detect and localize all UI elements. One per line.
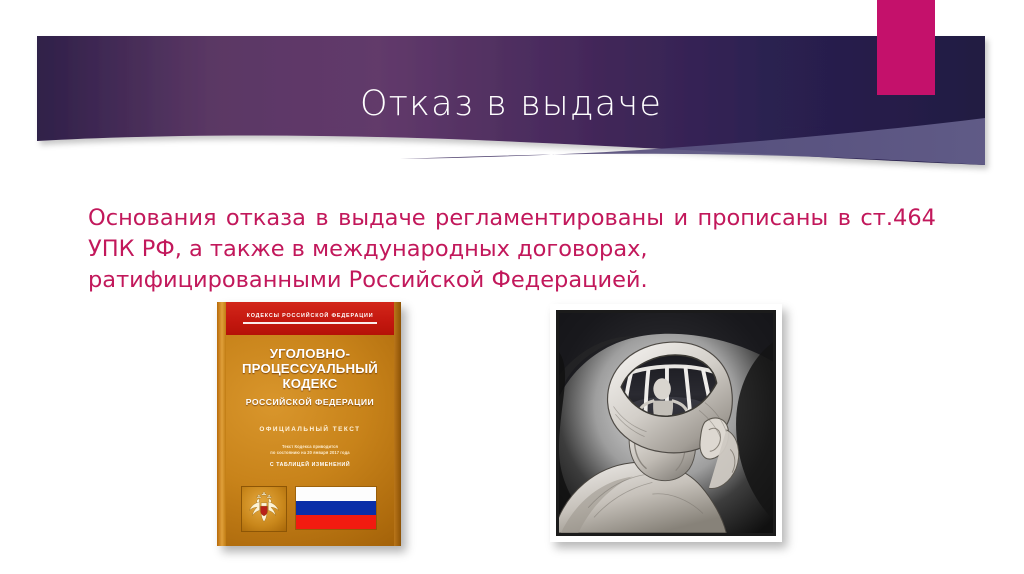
book-note-line-2: по состоянию на 20 января 2017 года <box>237 450 383 456</box>
flag-stripe-white <box>296 487 376 501</box>
page-title: Отказ в выдаче <box>37 86 985 123</box>
book-subtitle: РОССИЙСКОЙ ФЕДЕРАЦИИ <box>228 397 392 407</box>
book-title-line-3: КОДЕКС <box>228 376 392 391</box>
book-title-lines: УГОЛОВНО- ПРОЦЕССУАЛЬНЫЙ КОДЕКС <box>228 346 392 391</box>
book-page-edge <box>394 302 401 546</box>
body-line-3: ратифицированными Российской Федерацией. <box>88 265 936 296</box>
book-changes-table-label: С ТАБЛИЦЕЙ ИЗМЕНЕНИЙ <box>228 462 392 468</box>
russian-coat-of-arms-icon <box>241 486 287 532</box>
drawing-frame <box>556 310 776 536</box>
head-with-prison-bars-image <box>550 304 782 542</box>
accent-rectangle <box>877 0 935 95</box>
book-series-label: КОДЕКСЫ РОССИЙСКОЙ ФЕДЕРАЦИИ <box>247 313 374 319</box>
body-line-1: Основания отказа в выдаче регламентирова… <box>88 205 851 231</box>
book-bottom-emblems <box>241 486 377 530</box>
book-edition-note: Текст Кодекса приводится по состоянию на… <box>237 444 383 456</box>
russian-flag-icon <box>295 486 377 530</box>
body-paragraph: Основания отказа в выдаче регламентирова… <box>88 203 936 296</box>
book-title-block: УГОЛОВНО- ПРОЦЕССУАЛЬНЫЙ КОДЕКС РОССИЙСК… <box>228 346 392 407</box>
book-official-text-label: ОФИЦИАЛЬНЫЙ ТЕКСТ <box>228 426 392 433</box>
flag-stripe-red <box>296 515 376 529</box>
book-top-band: КОДЕКСЫ РОССИЙСКОЙ ФЕДЕРАЦИИ <box>226 302 394 335</box>
book-cover-image: КОДЕКСЫ РОССИЙСКОЙ ФЕДЕРАЦИИ УГОЛОВНО- П… <box>217 302 401 546</box>
book-title-line-1: УГОЛОВНО- <box>228 346 392 361</box>
book-title-line-2: ПРОЦЕССУАЛЬНЫЙ <box>228 361 392 376</box>
book-band-rule <box>243 322 377 324</box>
flag-stripe-blue <box>296 501 376 515</box>
slide-root: Отказ в выдаче Основания отказа в выдаче… <box>0 0 1024 574</box>
banner-wave <box>400 118 985 165</box>
images-row: КОДЕКСЫ РОССИЙСКОЙ ФЕДЕРАЦИИ УГОЛОВНО- П… <box>0 296 1024 574</box>
book-spine <box>217 302 226 546</box>
